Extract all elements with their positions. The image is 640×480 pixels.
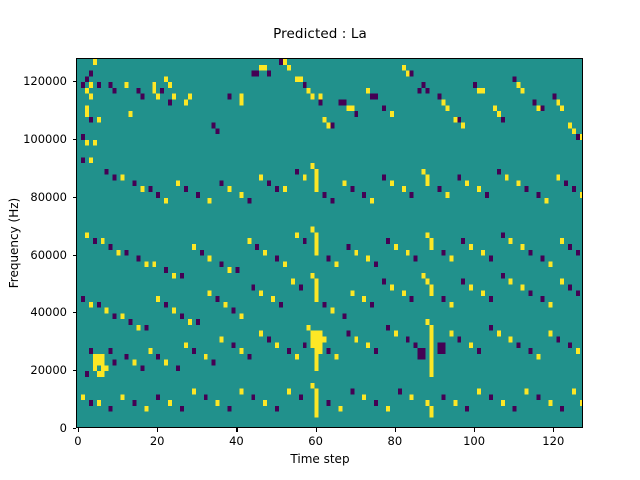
y-tick-label: 20000 (0, 363, 67, 377)
y-tick-mark (73, 255, 77, 256)
y-axis-label: Frequency (Hz) (7, 198, 21, 289)
matplotlib-figure: Predicted : La Frequency (Hz) Time step … (0, 0, 640, 480)
y-tick-label: 40000 (0, 305, 67, 319)
x-tick-mark (78, 428, 79, 432)
y-tick-mark (73, 370, 77, 371)
x-tick-label: 40 (229, 434, 244, 448)
x-tick-mark (236, 428, 237, 432)
heatmap-canvas (77, 59, 583, 428)
y-tick-label: 100000 (0, 132, 67, 146)
x-tick-label: 0 (74, 434, 81, 448)
x-tick-mark (474, 428, 475, 432)
x-tick-mark (553, 428, 554, 432)
y-tick-label: 120000 (0, 74, 67, 88)
y-tick-label: 0 (0, 421, 67, 435)
x-tick-label: 100 (463, 434, 485, 448)
x-tick-label: 60 (308, 434, 323, 448)
y-tick-mark (73, 139, 77, 140)
x-tick-label: 20 (150, 434, 165, 448)
x-tick-mark (395, 428, 396, 432)
y-tick-mark (73, 81, 77, 82)
y-tick-label: 80000 (0, 190, 67, 204)
y-tick-mark (73, 312, 77, 313)
x-tick-label: 120 (542, 434, 564, 448)
y-tick-mark (73, 428, 77, 429)
y-tick-label: 60000 (0, 248, 67, 262)
heatmap-axes (76, 58, 583, 428)
x-tick-mark (316, 428, 317, 432)
y-tick-mark (73, 197, 77, 198)
x-axis-label: Time step (0, 452, 640, 466)
page-title: Predicted : La (0, 26, 640, 42)
x-tick-mark (157, 428, 158, 432)
x-tick-label: 80 (388, 434, 403, 448)
